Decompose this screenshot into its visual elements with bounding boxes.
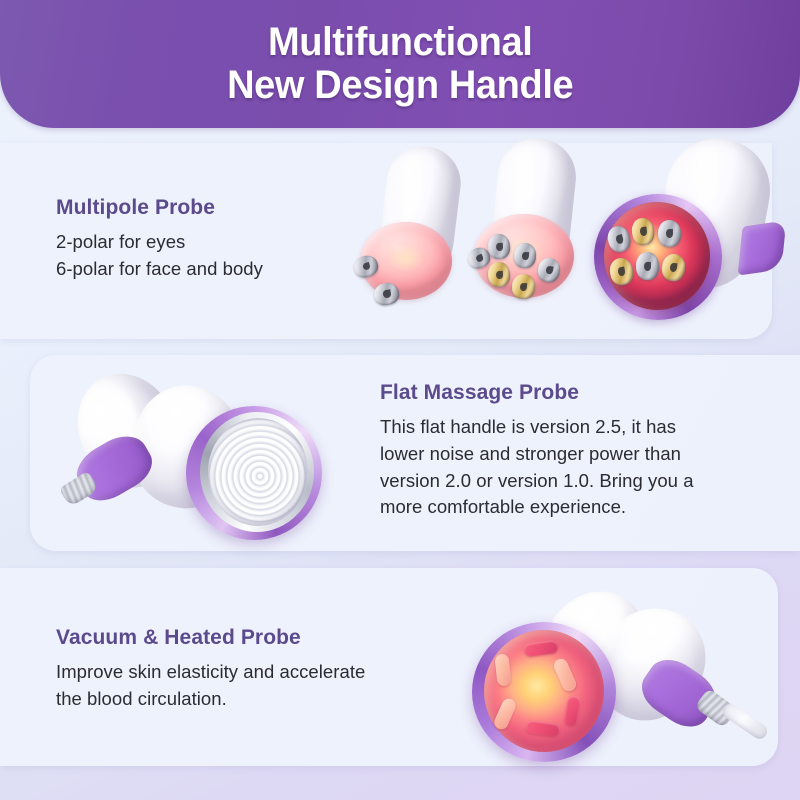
electrode-pin — [514, 243, 537, 269]
flat-massage-body-line-4: more comfortable experience. — [380, 494, 740, 521]
multipole-body-line-2: 6-polar for face and body — [56, 256, 263, 283]
electrode-pin — [658, 220, 682, 248]
banner-title-line-2: New Design Handle — [227, 64, 573, 107]
header-banner: Multifunctional New Design Handle — [0, 0, 800, 128]
multipole-probe-large-image — [588, 146, 778, 342]
vacuum-heated-heading: Vacuum & Heated Probe — [56, 626, 456, 650]
vacuum-heated-text-block: Vacuum & Heated Probe Improve skin elast… — [56, 626, 456, 713]
flat-massage-text-block: Flat Massage Probe This flat handle is v… — [380, 381, 740, 521]
vacuum-heated-probe-image — [470, 588, 800, 768]
banner-title-line-1: Multifunctional — [268, 21, 532, 64]
purple-collar — [738, 220, 787, 275]
multipole-heading: Multipole Probe — [56, 196, 263, 220]
multipole-text-block: Multipole Probe 2-polar for eyes 6-polar… — [56, 196, 263, 283]
flat-massage-probe-image — [60, 368, 360, 548]
flat-massage-body-line-3: version 2.0 or version 1.0. Bring you a — [380, 468, 740, 495]
multipole-body-line-1: 2-polar for eyes — [56, 229, 263, 256]
multipole-probe-6polar-image — [468, 148, 586, 342]
flat-massage-body-line-1: This flat handle is version 2.5, it has — [380, 414, 740, 441]
vacuum-heated-body-line-2: the blood circulation. — [56, 686, 456, 713]
flat-massage-heading: Flat Massage Probe — [380, 381, 740, 405]
flat-massage-body-line-2: lower noise and stronger power than — [380, 441, 740, 468]
electrode-pin — [487, 261, 511, 287]
electrode-pin — [636, 252, 660, 281]
multipole-probe-2polar-image — [352, 152, 464, 342]
vacuum-heated-body-line-1: Improve skin elasticity and accelerate — [56, 659, 456, 686]
